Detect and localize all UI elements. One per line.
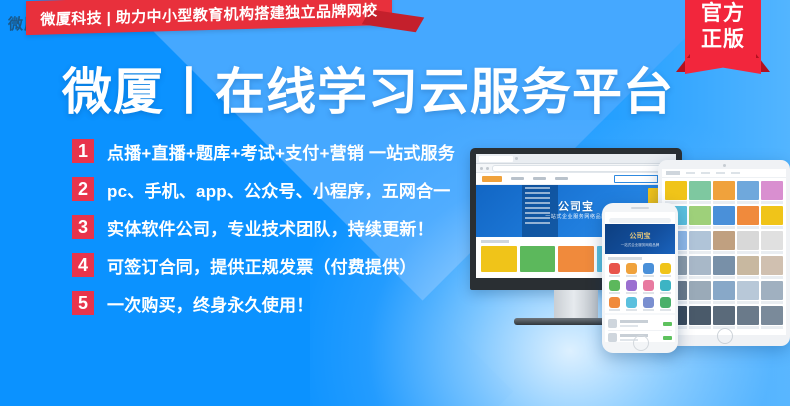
- course-thumbnail-cell: [713, 281, 735, 304]
- app-icon-label: [643, 275, 654, 277]
- official-ribbon-badge: 官方 正版: [685, 0, 761, 66]
- course-thumbnail: [761, 231, 783, 250]
- feature-text: 点播+直播+题库+考试+支付+营销 一站式服务: [107, 139, 455, 164]
- course-title-placeholder: [689, 226, 711, 229]
- app-icon-cell: [625, 297, 639, 311]
- course-thumbnail: [761, 181, 783, 200]
- app-icon: [626, 280, 637, 291]
- app-icon-cell: [642, 280, 656, 294]
- course-title-placeholder: [713, 226, 735, 229]
- course-thumbnail-cell: [689, 281, 711, 304]
- app-icon-label: [660, 275, 671, 277]
- app-icon-label: [660, 309, 671, 311]
- menu-row: [525, 222, 550, 224]
- app-icon-label: [626, 309, 637, 311]
- course-thumbnail: [689, 281, 711, 300]
- course-thumbnail-cell: [737, 256, 759, 279]
- course-thumbnail: [761, 206, 783, 225]
- course-thumbnail: [665, 181, 687, 200]
- course-thumbnail: [713, 256, 735, 275]
- menu-row: [525, 197, 550, 199]
- browser-address-bar: [476, 164, 676, 173]
- course-title-placeholder: [689, 251, 711, 254]
- course-thumbnail: [761, 281, 783, 300]
- course-thumbnail: [713, 181, 735, 200]
- nav-item: [555, 177, 568, 180]
- course-thumbnail: [761, 306, 783, 325]
- course-thumbnail: [737, 231, 759, 250]
- app-icon-cell: [642, 297, 656, 311]
- site-logo: [666, 171, 680, 175]
- list-item: 3 实体软件公司，专业技术团队，持续更新！: [72, 214, 455, 240]
- app-icon-cell: [608, 297, 622, 311]
- app-icon-label: [609, 275, 620, 277]
- product-card: [481, 246, 517, 272]
- course-thumbnail: [737, 306, 759, 325]
- feature-text: pc、手机、app、公众号、小程序，五网合一: [107, 177, 450, 202]
- course-thumbnail: [737, 281, 759, 300]
- nav-item: [686, 172, 695, 174]
- app-icon-cell: [658, 297, 672, 311]
- course-thumbnail-cell: [713, 206, 735, 229]
- section-heading: [608, 257, 642, 260]
- course-thumbnail-cell: [689, 256, 711, 279]
- course-title-placeholder: [689, 326, 711, 329]
- menu-row: [525, 202, 550, 204]
- course-title-placeholder: [737, 251, 759, 254]
- app-icon: [609, 297, 620, 308]
- tablet-site-nav: [662, 169, 786, 178]
- course-thumbnail-cell: [761, 231, 783, 254]
- course-title-placeholder: [761, 251, 783, 254]
- app-icon: [609, 263, 620, 274]
- app-icon: [609, 280, 620, 291]
- forward-arrow-icon: [486, 167, 489, 170]
- nav-item: [716, 172, 725, 174]
- app-icon-cell: [658, 280, 672, 294]
- feature-list: 1 点播+直播+题库+考试+支付+营销 一站式服务 2 pc、手机、app、公众…: [72, 138, 455, 316]
- feature-number-badge: 1: [72, 139, 94, 163]
- course-thumbnail: [737, 181, 759, 200]
- app-icon-cell: [642, 263, 656, 277]
- menu-row: [525, 192, 550, 194]
- app-icon-label: [626, 292, 637, 294]
- course-thumbnail-cell: [689, 206, 711, 229]
- product-card: [520, 246, 556, 272]
- feature-number-badge: 4: [72, 253, 94, 277]
- course-thumbnail-cell: [737, 206, 759, 229]
- course-title-placeholder: [689, 201, 711, 204]
- list-item: 4 可签订合同，提供正规发票（付费提供）: [72, 252, 455, 278]
- course-title-placeholder: [761, 326, 783, 329]
- app-icon: [643, 263, 654, 274]
- browser-tab-bar: [476, 154, 676, 164]
- tablet-screen: [662, 169, 786, 335]
- course-title-placeholder: [761, 301, 783, 304]
- course-title-placeholder: [713, 251, 735, 254]
- course-thumbnail-cell: [761, 281, 783, 304]
- ribbon-line-2: 正版: [685, 27, 761, 53]
- feature-number-badge: 2: [72, 177, 94, 201]
- course-thumbnail-cell: [689, 306, 711, 329]
- phone-screen: 公司宝 一站式企业服务网络品牌: [605, 212, 675, 342]
- app-icon: [660, 263, 671, 274]
- course-thumbnail-cell: [713, 256, 735, 279]
- hero-title: 公司宝: [558, 198, 594, 214]
- menu-row: [525, 207, 550, 209]
- course-thumbnail-cell: [713, 231, 735, 254]
- feature-text: 可签订合同，提供正规发票（付费提供）: [107, 253, 417, 278]
- course-title-placeholder: [737, 226, 759, 229]
- device-mockup-group: 公司宝 一站式企业服务网络品牌: [462, 148, 790, 358]
- list-item-action: [663, 336, 672, 340]
- ribbon-line-1: 官方: [685, 1, 761, 27]
- site-header-nav: [476, 173, 676, 185]
- course-title-placeholder: [713, 276, 735, 279]
- nav-item: [533, 177, 546, 180]
- app-icon: [626, 297, 637, 308]
- course-thumbnail-cell: [737, 231, 759, 254]
- list-item: 5 一次购买，终身永久使用！: [72, 290, 455, 316]
- course-title-placeholder: [689, 276, 711, 279]
- course-thumbnail-cell: [761, 306, 783, 329]
- course-title-placeholder: [737, 201, 759, 204]
- course-title-placeholder: [761, 276, 783, 279]
- product-card: [558, 246, 594, 272]
- app-icon-label: [626, 275, 637, 277]
- url-input: [492, 165, 672, 172]
- course-thumbnail: [737, 206, 759, 225]
- feature-number-badge: 3: [72, 215, 94, 239]
- camera-icon: [723, 164, 726, 167]
- course-thumbnail-cell: [737, 281, 759, 304]
- list-item-icon: [608, 333, 617, 342]
- course-title-placeholder: [713, 201, 735, 204]
- app-icon-cell: [625, 263, 639, 277]
- course-thumbnail-cell: [713, 181, 735, 204]
- course-thumbnail: [761, 256, 783, 275]
- list-item: [608, 317, 672, 331]
- list-item-action: [663, 322, 672, 326]
- course-thumbnail: [713, 206, 735, 225]
- course-title-placeholder: [689, 301, 711, 304]
- speaker-icon: [631, 207, 649, 209]
- app-icon-cell: [608, 263, 622, 277]
- course-thumbnail-cell: [713, 306, 735, 329]
- feature-number-badge: 5: [72, 291, 94, 315]
- course-thumbnail-cell: [689, 181, 711, 204]
- site-logo: [482, 176, 502, 182]
- nav-item: [731, 172, 740, 174]
- monitor-stand: [554, 290, 598, 320]
- course-title-placeholder: [737, 276, 759, 279]
- app-icon-cell: [625, 280, 639, 294]
- smartphone-mockup: 公司宝 一站式企业服务网络品牌: [602, 203, 678, 353]
- search-input: [609, 218, 671, 223]
- app-icon-section: [605, 254, 675, 313]
- app-icon-label: [660, 292, 671, 294]
- course-thumbnail: [713, 281, 735, 300]
- hero-subtitle: 一站式企业服务网络品牌: [545, 213, 607, 220]
- hero-category-menu: [522, 185, 558, 237]
- app-hero-subtitle: 一站式企业服务网络品牌: [621, 243, 660, 248]
- page-title: 微厦丨在线学习云服务平台: [62, 66, 674, 119]
- home-button-icon: [717, 328, 733, 344]
- course-thumbnail-cell: [737, 306, 759, 329]
- course-thumbnail: [689, 231, 711, 250]
- course-thumbnail: [689, 206, 711, 225]
- app-icon-cell: [608, 280, 622, 294]
- course-thumbnail-cell: [689, 231, 711, 254]
- app-icon: [643, 297, 654, 308]
- nav-item: [701, 172, 710, 174]
- course-thumbnail-grid: [662, 178, 786, 332]
- course-thumbnail: [689, 306, 711, 325]
- course-title-placeholder: [713, 301, 735, 304]
- app-hero-title: 公司宝: [630, 231, 651, 241]
- app-icon: [643, 280, 654, 291]
- list-item: 2 pc、手机、app、公众号、小程序，五网合一: [72, 176, 455, 202]
- course-thumbnail-cell: [761, 181, 783, 204]
- promo-banner: 微厦科技 微厦科技 | 助力中小型教育机构搭建独立品牌网校 官方 正版 微厦丨在…: [0, 0, 790, 406]
- course-thumbnail-cell: [761, 256, 783, 279]
- course-thumbnail: [713, 306, 735, 325]
- list-item: 1 点播+直播+题库+考试+支付+营销 一站式服务: [72, 138, 455, 164]
- app-search-bar: [605, 217, 675, 224]
- back-arrow-icon: [480, 167, 483, 170]
- list-item-icon: [608, 319, 617, 328]
- course-thumbnail: [689, 256, 711, 275]
- menu-row: [525, 187, 550, 189]
- list-item-text: [620, 320, 660, 327]
- app-icon-cell: [658, 263, 672, 277]
- top-tagline-text: 微厦科技 | 助力中小型教育机构搭建独立品牌网校: [40, 0, 377, 30]
- app-icon-label: [609, 292, 620, 294]
- course-title-placeholder: [737, 301, 759, 304]
- new-tab-icon: [515, 157, 518, 160]
- app-icon-label: [643, 309, 654, 311]
- course-thumbnail: [713, 231, 735, 250]
- app-icon: [626, 263, 637, 274]
- app-icon-grid: [608, 263, 672, 311]
- browser-tab: [479, 156, 513, 162]
- course-title-placeholder: [761, 226, 783, 229]
- app-icon-label: [643, 292, 654, 294]
- course-thumbnail: [689, 181, 711, 200]
- course-title-placeholder: [761, 201, 783, 204]
- app-icon: [660, 280, 671, 291]
- section-heading: [481, 240, 509, 243]
- nav-item: [511, 177, 524, 180]
- course-thumbnail-cell: [761, 206, 783, 229]
- course-title-placeholder: [737, 326, 759, 329]
- app-hero-banner: 公司宝 一站式企业服务网络品牌: [605, 224, 675, 254]
- feature-text: 实体软件公司，专业技术团队，持续更新！: [107, 215, 434, 240]
- home-button-icon: [633, 335, 649, 351]
- course-thumbnail: [737, 256, 759, 275]
- app-icon-label: [609, 309, 620, 311]
- course-thumbnail-cell: [665, 181, 687, 204]
- course-thumbnail-cell: [737, 181, 759, 204]
- app-icon: [660, 297, 671, 308]
- feature-text: 一次购买，终身永久使用！: [107, 291, 313, 316]
